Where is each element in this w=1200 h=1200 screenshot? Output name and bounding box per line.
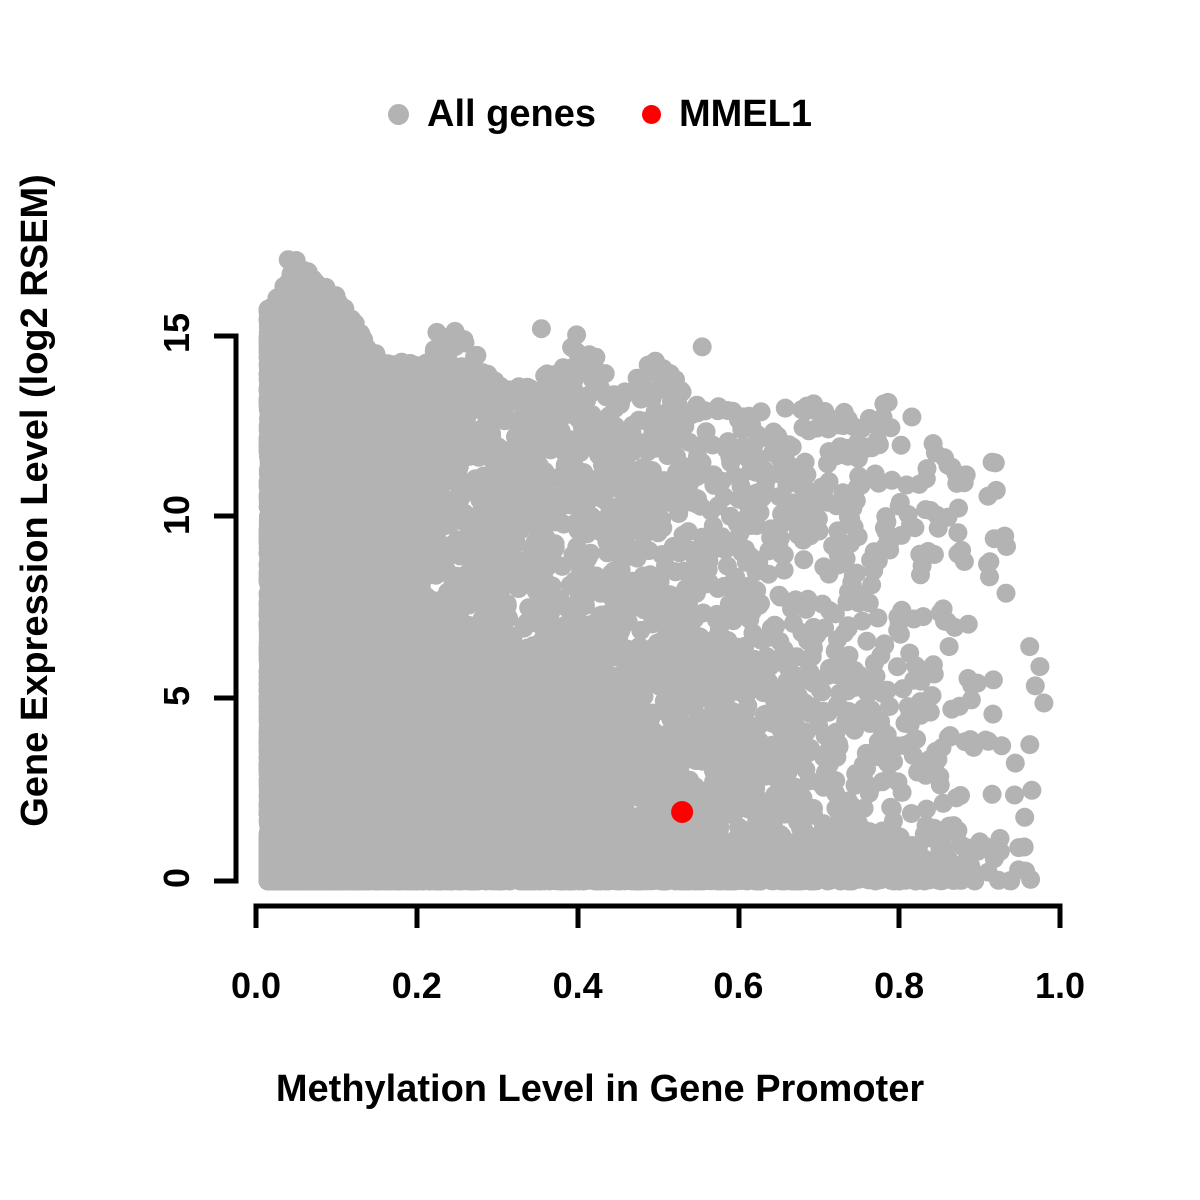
x-axis-tick-label: 1.0 — [1000, 965, 1120, 1007]
plot-area — [0, 0, 1200, 1200]
highlight-points-layer — [671, 801, 693, 823]
y-axis-tick-label: 0 — [150, 857, 204, 899]
y-axis-line — [214, 336, 236, 881]
x-axis-tick-label: 0.4 — [518, 965, 638, 1007]
x-axis-line — [256, 906, 1060, 928]
y-axis-tick-label: 10 — [150, 494, 204, 536]
data-points-layer — [259, 250, 1054, 890]
x-axis-tick-label: 0.8 — [839, 965, 959, 1007]
y-axis-tick-label: 5 — [150, 675, 204, 717]
x-axis-tick-label: 0.0 — [196, 965, 316, 1007]
x-axis-tick-label: 0.2 — [357, 965, 477, 1007]
scatter-plot-figure: All genes MMEL1 Gene Expression Level (l… — [0, 0, 1200, 1200]
y-axis-tick-label: 15 — [150, 312, 204, 354]
x-axis-tick-label: 0.6 — [678, 965, 798, 1007]
data-point-mmel1 — [671, 801, 693, 823]
